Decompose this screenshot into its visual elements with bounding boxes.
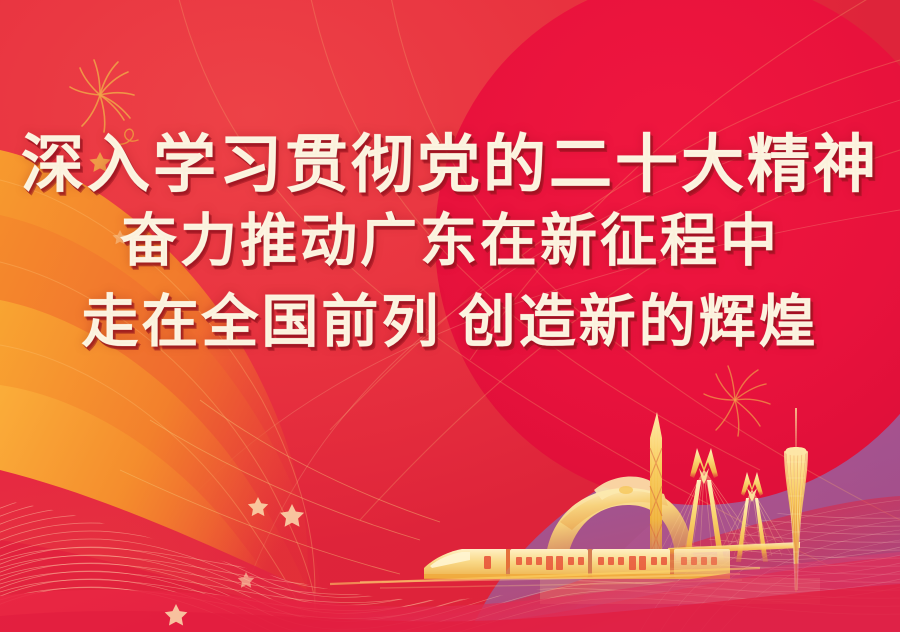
firework-star-top-left	[89, 152, 110, 172]
decorative-elements	[0, 0, 900, 632]
decorative-stars	[113, 230, 305, 625]
poster-canvas: 深入学习贯彻党的二十大精神 奋力推动广东在新征程中 走在全国前列 创造新的辉煌	[0, 0, 900, 632]
firework-burst-bottom-right	[704, 366, 770, 436]
firework-burst-top-left	[70, 60, 134, 132]
